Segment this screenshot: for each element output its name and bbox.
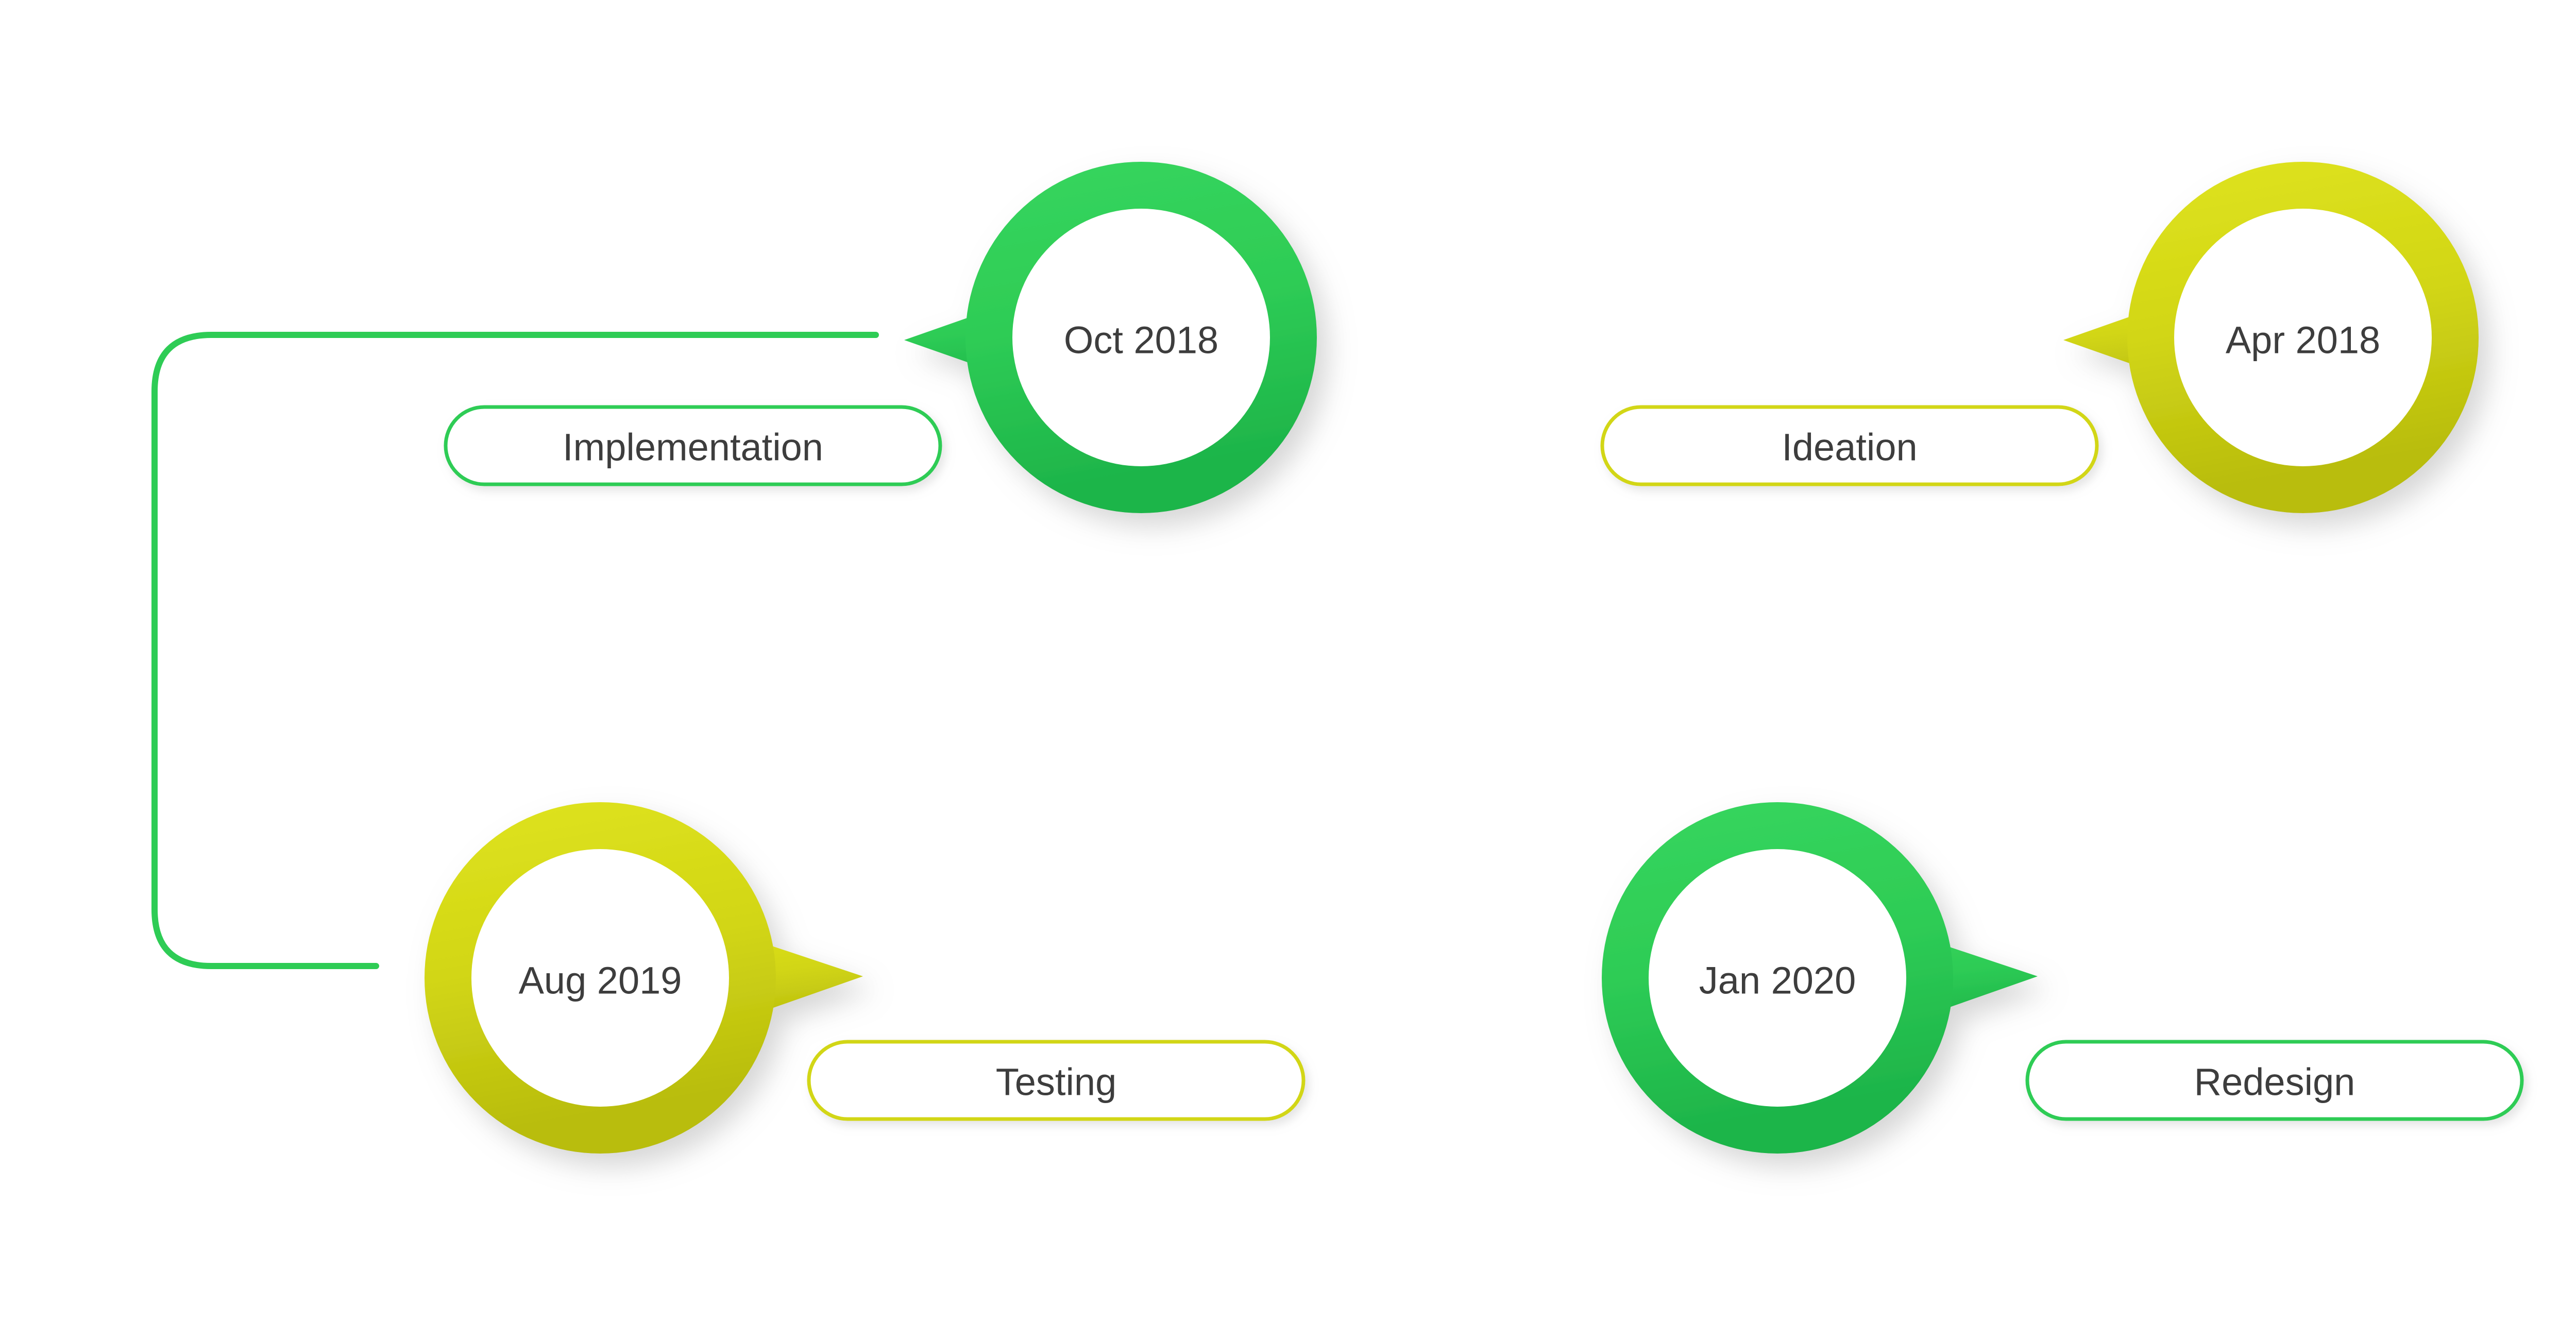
node-apr-2018-label: Apr 2018 bbox=[2226, 319, 2380, 362]
node-jan-2020-label: Jan 2020 bbox=[1699, 959, 1856, 1002]
timeline-diagram-canvas: Oct 2018 Apr 2018 Start Implementation I… bbox=[0, 0, 2576, 1338]
pill-ideation-label: Ideation bbox=[1782, 426, 1917, 469]
timeline-diagram-svg: Oct 2018 Apr 2018 Start Implementation I… bbox=[0, 0, 2576, 1338]
pill-implementation-top-label: Implementation bbox=[563, 426, 823, 469]
node-aug-2019-label: Aug 2019 bbox=[519, 959, 682, 1002]
pill-testing-label: Testing bbox=[996, 1061, 1116, 1104]
node-oct-2018-label: Oct 2018 bbox=[1064, 319, 1218, 362]
pill-redesign-label: Redesign bbox=[2194, 1061, 2355, 1104]
